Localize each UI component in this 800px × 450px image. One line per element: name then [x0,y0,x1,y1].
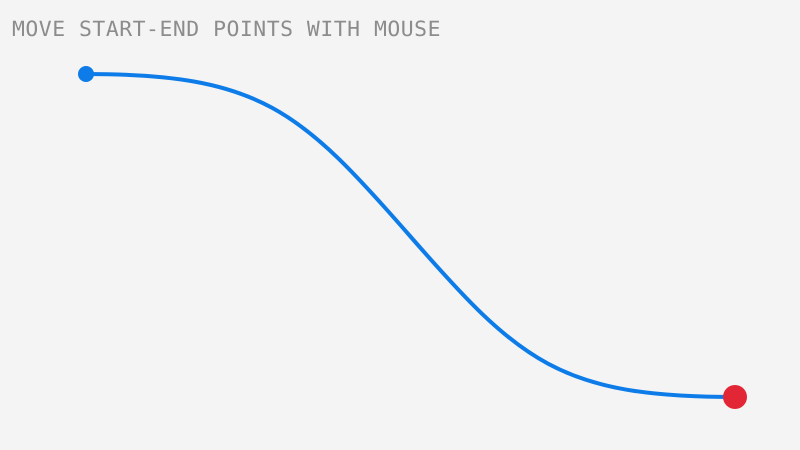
drawing-canvas[interactable] [0,0,800,450]
app-root: MOVE START-END POINTS WITH MOUSE [0,0,800,450]
end-point-handle[interactable] [723,385,747,409]
curve-canvas-svg[interactable] [0,0,800,450]
page-title: MOVE START-END POINTS WITH MOUSE [12,17,441,41]
start-point-handle[interactable] [78,66,94,82]
